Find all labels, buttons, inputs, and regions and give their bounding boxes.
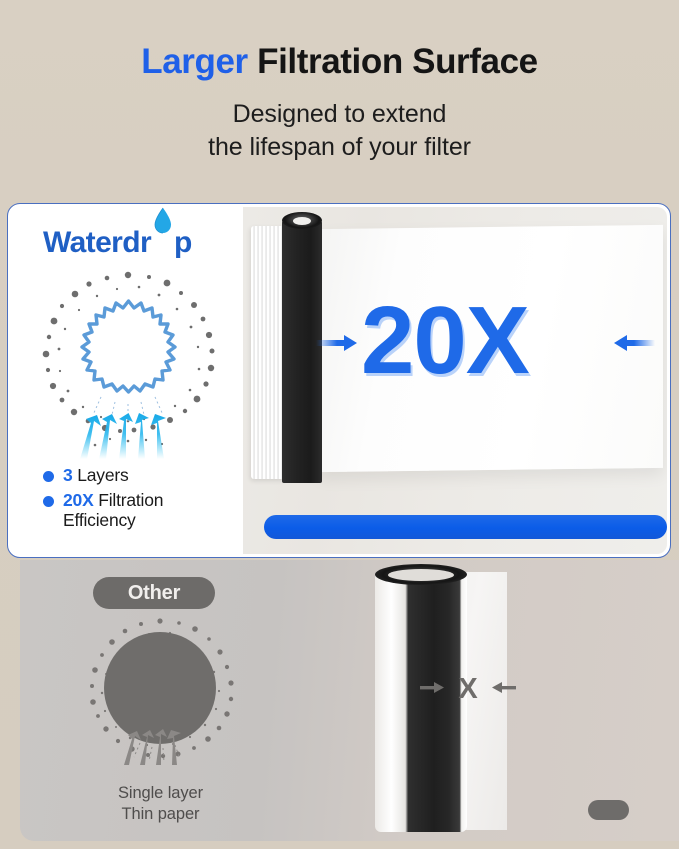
other-comparison-panel: Other	[20, 560, 679, 841]
bullet-text: 3 Layers	[63, 465, 129, 486]
arrow-left-icon	[492, 682, 516, 693]
page-title-highlight: Larger	[141, 42, 248, 81]
product-photo-area: 20X	[243, 207, 667, 554]
filter-core-hole	[293, 217, 311, 225]
page-title: Larger Filtration Surface	[0, 0, 679, 81]
page-title-rest: Filtration Surface	[248, 42, 538, 81]
other-caption: Single layer Thin paper	[68, 783, 253, 825]
subtitle-line-2: the lifespan of your filter	[208, 133, 471, 161]
bullet-number: 20X	[63, 490, 94, 510]
subtitle-line-1: Designed to extend	[233, 100, 447, 128]
list-item: 20X Filtration Efficiency	[43, 490, 233, 531]
waterdrop-logo: Waterdrop	[43, 226, 192, 260]
other-caption-line-2: Thin paper	[68, 804, 253, 825]
arrow-right-icon	[420, 682, 444, 693]
bullet-number: 3	[63, 465, 73, 485]
other-badge-label: Other	[128, 582, 180, 605]
pleated-filtration-ring-icon	[31, 269, 226, 459]
card-inner: Waterdrop	[11, 207, 667, 554]
water-drop-icon: o	[151, 226, 174, 260]
logo-text-before: Waterdr	[43, 226, 151, 260]
promo-page: Larger Filtration Surface Designed to ex…	[0, 0, 679, 849]
header: Larger Filtration Surface Designed to ex…	[0, 0, 679, 196]
logo-text-after: p	[174, 226, 192, 260]
feature-bullet-list: 3 Layers 20X Filtration Efficiency	[43, 465, 233, 535]
bullet-label: Layers	[73, 465, 129, 485]
multiplier-label: 20X	[361, 293, 529, 389]
other-caption-line-1: Single layer	[68, 783, 253, 804]
water-drop-glyph	[152, 207, 174, 236]
waterdrop-feature-card: Waterdrop	[7, 203, 671, 558]
small-x-label: X	[458, 673, 478, 705]
status-badge: Other	[93, 577, 215, 609]
arrow-left-icon	[613, 331, 655, 355]
plain-filtration-circle-icon	[85, 615, 235, 765]
arrow-right-icon	[316, 331, 358, 355]
gray-width-bar	[588, 800, 629, 820]
bullet-dot-icon	[43, 471, 54, 482]
filter-roll-icon	[251, 218, 321, 481]
list-item: 3 Layers	[43, 465, 233, 486]
small-width-marker: X	[420, 673, 516, 708]
filter-pleats	[251, 226, 285, 479]
thin-filter-hole	[388, 569, 454, 581]
blue-width-bar	[264, 515, 667, 539]
page-subtitle: Designed to extendthe lifespan of your f…	[0, 81, 679, 164]
bullet-dot-icon	[43, 496, 54, 507]
brand-panel: Waterdrop	[11, 207, 243, 554]
bullet-text: 20X Filtration Efficiency	[63, 490, 233, 531]
